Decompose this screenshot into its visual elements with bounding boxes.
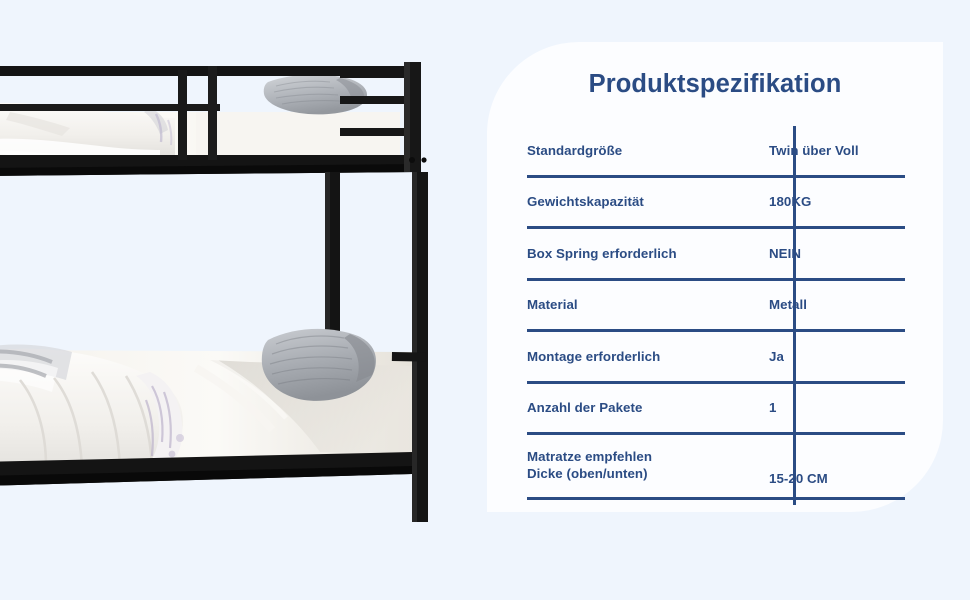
spec-key-number-of-packages: Anzahl der Pakete (527, 399, 753, 416)
spec-value-number-of-packages: 1 (753, 399, 905, 416)
table-row: Matratze empfehlenDicke (oben/unten) 15-… (527, 435, 905, 500)
spec-key-weight-capacity: Gewichtskapazität (527, 193, 753, 210)
spec-key-assembly-required: Montage erforderlich (527, 348, 753, 365)
spec-value-box-spring-required: NEIN (753, 245, 905, 262)
spec-key-material: Material (527, 296, 753, 313)
page-title: Produktspezifikation (487, 70, 943, 99)
specification-card: Produktspezifikation Standardgröße Twin … (487, 42, 943, 512)
spec-key-standard-size: Standardgröße (527, 142, 753, 159)
table-row: Material Metall (527, 281, 905, 333)
bunk-bed-illustration (0, 0, 470, 600)
table-row: Gewichtskapazität 180KG (527, 178, 905, 230)
table-row: Anzahl der Pakete 1 (527, 384, 905, 436)
table-row: Standardgröße Twin über Voll (527, 126, 905, 178)
product-photo (0, 0, 470, 600)
table-row: Montage erforderlich Ja (527, 332, 905, 384)
spec-value-material: Metall (753, 296, 905, 313)
spec-value-mattress-thickness: 15-20 CM (753, 470, 905, 487)
spec-key-box-spring-required: Box Spring erforderlich (527, 245, 753, 262)
specification-table: Standardgröße Twin über Voll Gewichtskap… (527, 126, 905, 500)
spec-key-mattress-thickness: Matratze empfehlenDicke (oben/unten) (527, 448, 753, 483)
product-spec-banner: Produktspezifikation Standardgröße Twin … (0, 0, 970, 600)
table-row: Box Spring erforderlich NEIN (527, 229, 905, 281)
spec-value-assembly-required: Ja (753, 348, 905, 365)
spec-value-standard-size: Twin über Voll (753, 142, 905, 159)
spec-value-weight-capacity: 180KG (753, 193, 905, 210)
